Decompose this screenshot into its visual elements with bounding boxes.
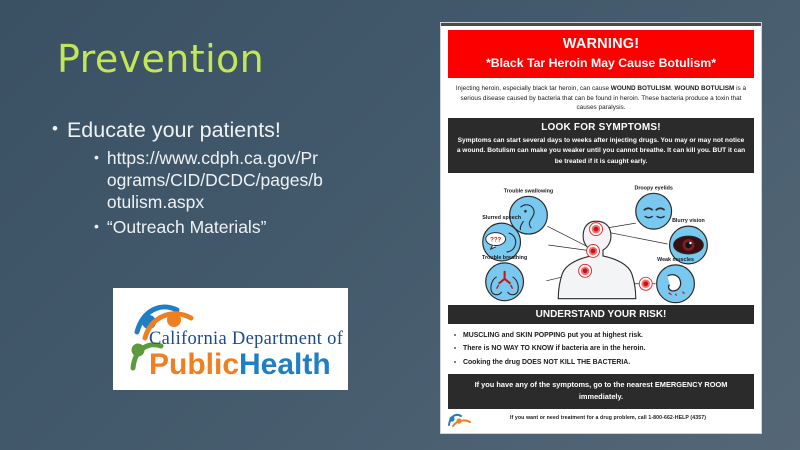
svg-text:???: ??? (490, 237, 501, 243)
symptoms-title: LOOK FOR SYMPTOMS! (455, 122, 747, 133)
intro-run: Injecting heroin, especially black tar h… (456, 85, 611, 92)
risk-list-item: Cooking the drug DOES NOT KILL THE BACTE… (463, 356, 761, 369)
link-url[interactable]: https://www.cdph.ca.gov/Programs/CID/DCD… (107, 147, 327, 213)
logo-word-public: Public (149, 348, 239, 381)
symptoms-body: Symptoms can start several days to weeks… (455, 136, 747, 167)
warning-subtitle: *Black Tar Heroin May Cause Botulism* (452, 56, 750, 70)
list-item: • https://www.cdph.ca.gov/Programs/CID/D… (94, 147, 402, 213)
sub-bullet-text: “Outreach Materials” (107, 216, 267, 238)
warning-title: WARNING! (452, 36, 750, 52)
cdph-logo: California Department of PublicHealth (113, 288, 348, 390)
logo-word-health: Health (239, 348, 331, 381)
intro-run: WOUND BOTULISM (611, 85, 671, 92)
list-item: • “Outreach Materials” (94, 216, 402, 238)
cdph-mark-icon (446, 412, 472, 428)
symptom-label-blurry-vision: Blurry vision (672, 218, 705, 224)
logo-line-2: PublicHealth (149, 351, 343, 380)
symptom-label-weak-muscles: Weak muscles (657, 257, 694, 263)
bullet-list: • Educate your patients! • https://www.c… (52, 118, 402, 240)
poster-intro-text: Injecting heroin, especially black tar h… (441, 78, 761, 118)
risk-banner: UNDERSTAND YOUR RISK! (448, 305, 754, 324)
symptoms-section: LOOK FOR SYMPTOMS! Symptoms can start se… (448, 118, 754, 173)
emergency-notice: If you have any of the symptoms, go to t… (448, 374, 754, 409)
symptom-label-trouble-breathing: Trouble breathing (482, 255, 527, 261)
bullet-dot-icon: • (94, 216, 99, 238)
poster-footer: If you want or need treatment for a drug… (441, 409, 761, 433)
symptom-label-droopy-eyelids: Droopy eyelids (634, 185, 672, 191)
botulism-warning-poster: WARNING! *Black Tar Heroin May Cause Bot… (440, 22, 762, 434)
risk-list-item: MUSCLING and SKIN POPPING put you at hig… (463, 329, 761, 342)
warning-banner: WARNING! *Black Tar Heroin May Cause Bot… (448, 30, 754, 78)
list-item: • Educate your patients! (52, 118, 402, 143)
bullet-text: Educate your patients! (67, 118, 281, 143)
symptom-diagram-svg: ??? (441, 175, 761, 305)
symptom-label-slurred-speech: Slurred speech (482, 215, 521, 221)
footer-text: If you want or need treatment for a drug… (447, 415, 755, 421)
bullet-dot-icon: • (94, 147, 99, 213)
risk-title: UNDERSTAND YOUR RISK! (452, 309, 750, 320)
intro-run: WOUND BOTULISM (674, 85, 734, 92)
logo-line-1: California Department of (149, 329, 343, 350)
symptom-label-trouble-swallowing: Trouble swallowing (504, 188, 553, 194)
risk-list: MUSCLING and SKIN POPPING put you at hig… (441, 324, 761, 373)
poster-top-rule (441, 23, 761, 26)
bullet-dot-icon: • (52, 118, 58, 143)
risk-list-item: There is NO WAY TO KNOW if bacteria are … (463, 342, 761, 355)
page-title: Prevention (57, 40, 264, 78)
symptom-diagram: ??? (441, 175, 761, 305)
cdph-logo-text: California Department of PublicHealth (149, 329, 343, 380)
